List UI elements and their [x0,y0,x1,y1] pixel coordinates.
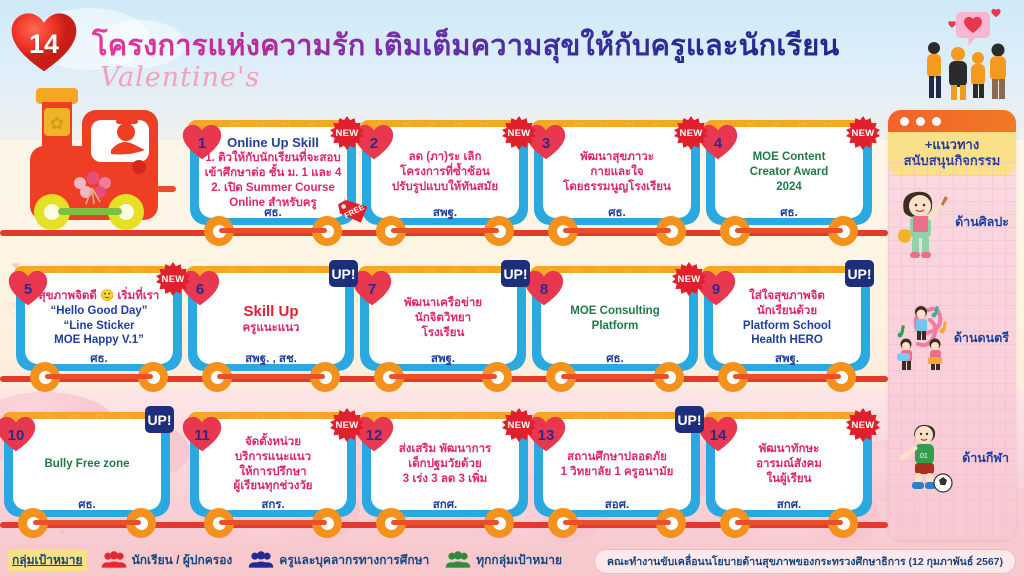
card-text-line: โครงการที่ซ้ำซ้อน [392,165,498,180]
new-badge-label: NEW [851,420,874,431]
card-text-line: “Hello Good Day” [39,304,160,319]
new-badge: NEW [502,408,536,442]
axle [45,374,153,379]
project-card-4[interactable]: ♡♡♡♡♡♡ MOE ContentCreator Award2024 ศธ. … [706,118,872,242]
card-text-line: ให้การปรึกษา [233,465,312,480]
card-text: จัดตั้งหน่วยบริการแนะแนวให้การปรึกษาผู้เ… [233,435,312,494]
card-wheels [534,212,700,246]
card-text-line: Creator Award [750,165,829,180]
card-text-line: นักจิตวิทยา [404,311,482,326]
target-group-title: กลุ่มเป้าหมาย [8,550,87,571]
card-text: ส่งเสริม พัฒนาการเด็กปฐมวัยด้วย3 เร่ง 3 … [399,442,491,486]
axle [735,228,843,233]
card-text: Skill Upครูแนะแนว [242,302,299,336]
card-number: 14 [698,416,738,453]
project-card-9[interactable]: ♡♡♡♡♡♡ ใส่ใจสุขภาพจิตนักเรียนด้วยPlatfor… [704,264,870,388]
card-text-line: ลด (ภา)ระ เลิก [392,150,498,165]
footer-note: คณะทำงานขับเคลื่อนนโยบายด้านสุขภาพของกระ… [594,549,1016,574]
card-text: Online Up Skill1. ติวให้กับนักเรียนที่จะ… [205,135,342,211]
project-card-2[interactable]: ♡♡♡♡♡♡ ลด (ภา)ระ เลิกโครงการที่ซ้ำซ้อนปร… [362,118,528,242]
card-text: ใส่ใจสุขภาพจิตนักเรียนด้วยPlatform Schoo… [743,289,831,348]
card-text: Bully Free zone [45,457,130,472]
new-badge-label: NEW [335,128,358,139]
card-text-line: Skill Up [242,302,299,321]
legend-item-2: ครูและบุคลากรทางการศึกษา [248,551,429,570]
card-text-line: 2024 [750,180,829,195]
svg-text:01: 01 [920,453,928,460]
new-badge: NEW [156,262,190,296]
card-number: 8 [524,270,564,307]
card-text-line: โรงเรียน [404,326,482,341]
card-text-line: นักเรียนด้วย [743,304,831,319]
card-wheels [360,358,526,392]
card-wheels [4,504,170,538]
axle [219,228,327,233]
new-badge-label: NEW [851,128,874,139]
card-text-line: พัฒนาสุขภาวะ [563,150,671,165]
axle [391,228,499,233]
project-card-14[interactable]: ♡♡♡♡♡♡ พัฒนาทักษะอารมณ์สังคมในผู้เรียน ส… [706,410,872,534]
people-group-icon [445,551,471,569]
card-text-line: เข้าศึกษาต่อ ชั้น ม. 1 และ 4 [205,166,342,181]
art-child-icon [894,182,956,260]
project-card-7[interactable]: ♡♡♡♡♡♡ พัฒนาเครือข่ายนักจิตวิทยาโรงเรียน… [360,264,526,388]
card-text: สุขภาพจิตดี 🙂 เริ่มที่เรา“Hello Good Day… [39,289,160,348]
infographic-canvas: ♥ ♡ ♥ ♥ ♥ 14 โครงการแห่งความรัก เติมเต็ม… [0,0,1024,576]
panel-row-music: ด้านดนตรี [888,290,1016,382]
panel-dot-2 [916,117,925,126]
card-wheels [534,504,700,538]
card-text: พัฒนาเครือข่ายนักจิตวิทยาโรงเรียน [404,296,482,340]
card-text-line: เด็กปฐมวัยด้วย [399,457,491,472]
card-text-line: ในผู้เรียน [756,472,822,487]
family-love-illustration [918,6,1018,106]
project-card-12[interactable]: ♡♡♡♡♡♡ ส่งเสริม พัฒนาการเด็กปฐมวัยด้วย3 … [362,410,528,534]
legend-label: ครูและบุคลากรทางการศึกษา [279,551,429,570]
people-group-icon [248,551,274,569]
legend-label: นักเรียน / ผู้ปกครอง [132,551,233,570]
card-text-line: โดยธรรมนูญโรงเรียน [563,180,671,195]
panel-row-art: ด้านศิลปะ [888,174,1016,266]
card-text-line: 3 เร่ง 3 ลด 3 เพิ่ม [399,472,491,487]
panel-row-sport: 01 ด้านกีฬา [888,410,1016,502]
card-number: 5 [8,270,48,307]
project-card-11[interactable]: ♡♡♡♡♡♡ จัดตั้งหน่วยบริการแนะแนวให้การปรึ… [190,410,356,534]
card-text-line: จัดตั้งหน่วย [233,435,312,450]
project-card-5[interactable]: ♡♡♡♡♡♡ สุขภาพจิตดี 🙂 เริ่มที่เรา“Hello G… [16,264,182,388]
card-number: 11 [182,416,222,453]
card-text: สถานศึกษาปลอดภัย1 วิทยาลัย 1 ครูอนามัย [561,450,674,479]
valentine-heart-badge: 14 [10,12,78,74]
card-number: 10 [0,416,36,453]
card-text-line: อารมณ์สังคม [756,457,822,472]
card-wheels [362,212,528,246]
card-text-line: Platform School [743,319,831,334]
card-wheels [532,358,698,392]
panel-dot-1 [900,117,909,126]
card-text-line: MOE Content [750,150,829,165]
axle [563,228,671,233]
new-badge-label: NEW [677,274,700,285]
axle [389,374,497,379]
footer-legend-bar: กลุ่มเป้าหมาย นักเรียน / ผู้ปกครอง ครูแล… [0,544,1024,576]
card-text-line: ส่งเสริม พัฒนาการ [399,442,491,457]
card-text-line: 1 วิทยาลัย 1 ครูอนามัย [561,465,674,480]
card-text-line: กายและใจ [563,165,671,180]
card-text-line: สุขภาพจิตดี 🙂 เริ่มที่เรา [39,289,160,304]
card-number-badge: 14 [698,416,738,453]
card-text: พัฒนาสุขภาวะกายและใจโดยธรรมนูญโรงเรียน [563,150,671,194]
legend-label: ทุกกลุ่มเป้าหมาย [476,551,562,570]
card-wheels [706,504,872,538]
up-badge: UP! [845,260,874,287]
card-text-line: Health HERO [743,333,831,348]
card-number-badge: 8 [524,270,564,307]
legend-item-3: ทุกกลุ่มเป้าหมาย [445,551,562,570]
card-wheels [190,504,356,538]
new-badge: NEW [330,408,364,442]
card-number: 7 [352,270,392,307]
card-text: MOE ContentCreator Award2024 [750,150,829,194]
people-group-icon [101,551,127,569]
card-text-line: ครูแนะแนว [242,321,299,336]
up-badge: UP! [675,406,704,433]
card-text-line: 1. ติวให้กับนักเรียนที่จะสอบ [205,151,342,166]
up-badge: UP! [501,260,530,287]
axle [391,520,499,525]
project-card-6[interactable]: ♡♡♡♡♡♡ Skill Upครูแนะแนว สพฐ. , สช. 6 UP… [188,264,354,388]
card-number-badge: 5 [8,270,48,307]
up-badge: UP! [329,260,358,287]
panel-row-label: ด้านศิลปะ [955,212,1009,232]
music-children-icon [894,298,956,376]
new-badge-label: NEW [679,128,702,139]
axle [217,374,325,379]
new-badge: NEW [846,116,880,150]
axle [563,520,671,525]
project-card-1[interactable]: ♡♡♡♡♡♡ Online Up Skill1. ติวให้กับนักเรี… [190,118,356,242]
new-badge: NEW [846,408,880,442]
card-text: MOE ConsultingPlatform [570,304,659,333]
panel-row-label: ด้านดนตรี [954,328,1009,348]
panel-title-bar [888,110,1016,132]
new-badge-label: NEW [507,128,530,139]
axle [33,520,141,525]
train-engine-illustration: ✿ [8,88,183,248]
card-wheels [188,358,354,392]
new-badge: NEW [674,116,708,150]
legend-item-1: นักเรียน / ผู้ปกครอง [101,551,233,570]
card-wheels [190,212,356,246]
legend-list: นักเรียน / ผู้ปกครอง ครูและบุคลากรทางการ… [95,551,562,570]
panel-title-line1: +แนวทาง [892,137,1012,153]
card-text-line: ใส่ใจสุขภาพจิต [743,289,831,304]
card-wheels [706,212,872,246]
axle [735,520,843,525]
project-card-10[interactable]: ♡♡♡♡♡♡ Bully Free zone ศธ. 10 UP! [4,410,170,534]
card-text-line: “Line Sticker [39,319,160,334]
card-wheels [704,358,870,392]
new-badge: NEW [502,116,536,150]
axle [561,374,669,379]
card-text-line: พัฒนาเครือข่าย [404,296,482,311]
heart-badge-number: 14 [10,12,78,74]
project-card-13[interactable]: ♡♡♡♡♡♡ สถานศึกษาปลอดภัย1 วิทยาลัย 1 ครูอ… [534,410,700,534]
svg-text:✿: ✿ [50,114,64,133]
card-text-line: ผู้เรียนทุกช่วงวัย [233,479,312,494]
card-text-line: Online Up Skill [205,135,342,152]
card-text: พัฒนาทักษะอารมณ์สังคมในผู้เรียน [756,442,822,486]
new-badge: NEW [672,262,706,296]
card-text-line: Bully Free zone [45,457,130,472]
card-text-line: พัฒนาทักษะ [756,442,822,457]
axle [219,520,327,525]
soccer-child-icon: 01 [894,418,956,496]
axle [733,374,841,379]
card-number: 1 [182,124,222,161]
card-number-badge: 11 [182,416,222,453]
card-wheels [362,504,528,538]
card-number-badge: 7 [352,270,392,307]
panel-row-label: ด้านกีฬา [962,448,1009,468]
card-text-line: MOE Consulting [570,304,659,319]
card-wheels [16,358,182,392]
card-text-line: บริการแนะแนว [233,450,312,465]
project-card-3[interactable]: ♡♡♡♡♡♡ พัฒนาสุขภาวะกายและใจโดยธรรมนูญโรง… [534,118,700,242]
panel-dot-3 [932,117,941,126]
new-badge-label: NEW [161,274,184,285]
support-activities-panel: +แนวทาง สนับสนุนกิจกรรม ด้านศิลปะ [888,110,1016,540]
card-text-line: MOE Happy V.1” [39,333,160,348]
up-badge: UP! [145,406,174,433]
new-badge-label: NEW [335,420,358,431]
card-number-badge: 1 [182,124,222,161]
card-text-line: สถานศึกษาปลอดภัย [561,450,674,465]
new-badge-label: NEW [507,420,530,431]
card-text-line: Platform [570,319,659,334]
card-text-line: ปรับรูปแบบให้ทันสมัย [392,180,498,195]
card-text: ลด (ภา)ระ เลิกโครงการที่ซ้ำซ้อนปรับรูปแบ… [392,150,498,194]
project-card-8[interactable]: ♡♡♡♡♡♡ MOE ConsultingPlatform ศธ. 8 NEW [532,264,698,388]
card-number-badge: 10 [0,416,36,453]
new-badge: NEW [330,116,364,150]
card-text-line: 2. เปิด Summer Course [205,181,342,196]
